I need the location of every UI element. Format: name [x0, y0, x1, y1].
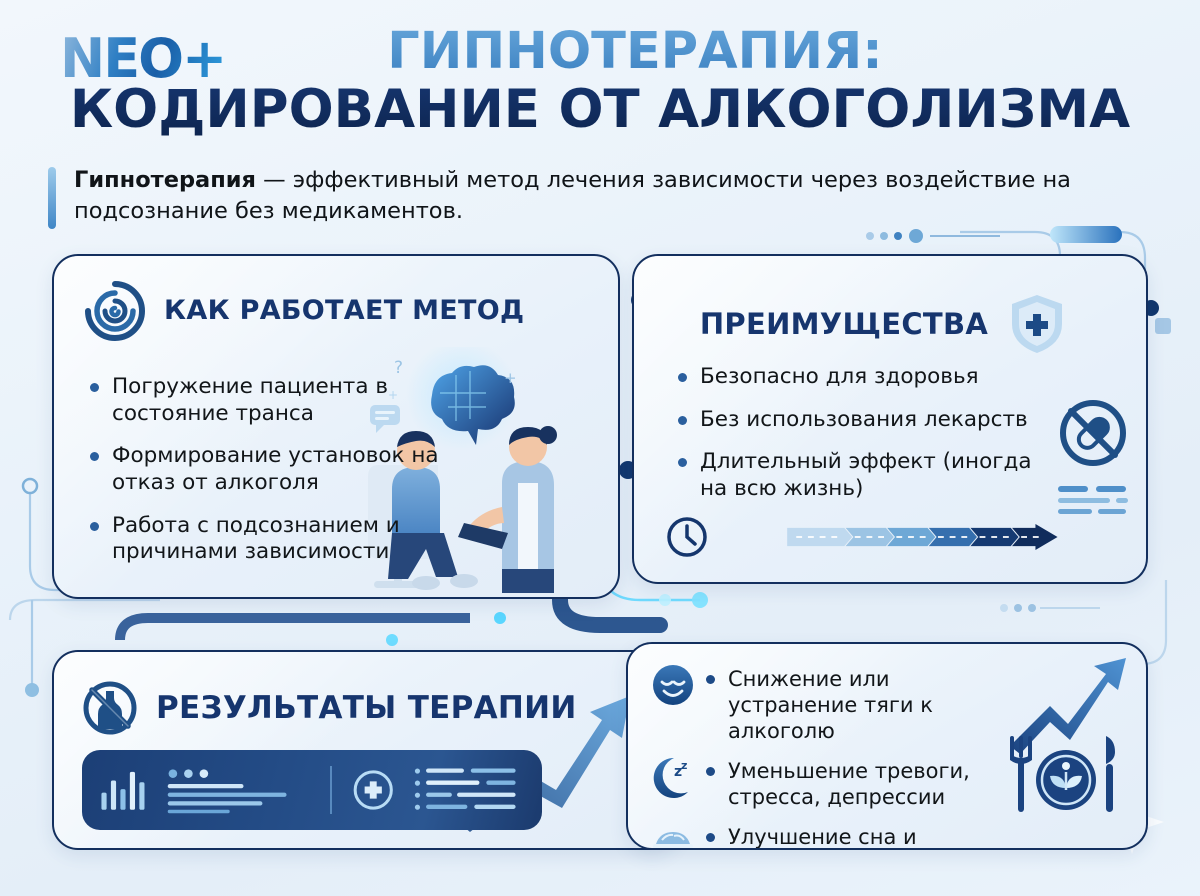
spiral-hypnosis-icon: [84, 280, 146, 342]
card-advantages[interactable]: ПРЕИМУЩЕСТВА Безопасно для здоровья Без …: [632, 254, 1148, 584]
no-pills-icon: [1058, 398, 1128, 468]
list-item: Погружение пациента в состояние транса: [86, 374, 446, 427]
svg-text:z: z: [681, 759, 687, 772]
list-item: Длительный эффект (иногда на всю жизнь): [674, 449, 1044, 502]
list-item: Формирование установок на отказ от алког…: [86, 443, 446, 496]
subtitle-keyword: Гипнотерапия: [74, 167, 256, 193]
list-item: z z Уменьшение тревоги, стресса, депресс…: [650, 754, 1020, 810]
healthy-meal-icon: [1006, 730, 1124, 822]
long-effect-progress: [666, 516, 1132, 558]
subtitle-block: Гипнотерапия — эффективный метод лечения…: [48, 165, 1088, 226]
method-bullet-list: Погружение пациента в состояние транса Ф…: [86, 374, 446, 582]
list-item: Без использования лекарств: [674, 407, 1044, 434]
text-lines-icon: [1056, 484, 1130, 518]
list-item: Улучшение сна и аппетита: [650, 820, 1020, 850]
page-title: ГИПНОТЕРАПИЯ: КОДИРОВАНИЕ ОТ АЛКОГОЛИЗМА: [0, 26, 1200, 137]
advantages-card-header: ПРЕИМУЩЕСТВА: [634, 292, 1146, 356]
text-lines-icon: [166, 763, 312, 817]
clock-icon: [666, 516, 708, 558]
bar-chart-icon: [98, 763, 148, 817]
card-how-method-works[interactable]: ? + +: [52, 254, 620, 599]
list-item-label: Улучшение сна и аппетита: [706, 820, 1020, 850]
accent-bar: [48, 167, 56, 229]
outcomes-list: Снижение или устранение тяги к алкоголю …: [650, 662, 1020, 850]
list-item: Работа с подсознанием и причинами зависи…: [86, 513, 446, 566]
advantages-card-title: ПРЕИМУЩЕСТВА: [700, 308, 988, 340]
svg-text:+: +: [504, 369, 517, 387]
plus-circle-icon: [350, 763, 396, 817]
food-bowl-icon: [650, 820, 696, 850]
shield-plus-icon: [1008, 292, 1066, 356]
method-card-header: КАК РАБОТАЕТ МЕТОД: [84, 280, 524, 342]
title-line-2: КОДИРОВАНИЕ ОТ АЛКОГОЛИЗМА: [0, 82, 1200, 137]
card-therapy-results[interactable]: РЕЗУЛЬТАТЫ ТЕРАПИИ: [52, 650, 678, 850]
list-item-label: Уменьшение тревоги, стресса, депрессии: [706, 754, 1020, 810]
progress-arrow: [714, 524, 1132, 550]
card-outcomes[interactable]: Снижение или устранение тяги к алкоголю …: [626, 642, 1148, 850]
advantages-bullet-list: Безопасно для здоровья Без использования…: [674, 364, 1044, 519]
list-item: Снижение или устранение тяги к алкоголю: [650, 662, 1020, 744]
method-card-title: КАК РАБОТАЕТ МЕТОД: [164, 296, 524, 326]
list-item: Безопасно для здоровья: [674, 364, 1044, 391]
results-data-panel: [82, 750, 542, 830]
calm-face-icon: [650, 662, 696, 708]
list-lines-icon: [414, 762, 526, 818]
no-bottle-icon: [82, 680, 138, 736]
sleeping-moon-icon: z z: [650, 754, 696, 800]
infographic-root: NEO+ ГИПНОТЕРАПИЯ: КОДИРОВАНИЕ ОТ АЛКОГО…: [0, 0, 1200, 896]
title-line-1: ГИПНОТЕРАПИЯ:: [0, 26, 1200, 78]
list-item-label: Снижение или устранение тяги к алкоголю: [706, 662, 1020, 744]
